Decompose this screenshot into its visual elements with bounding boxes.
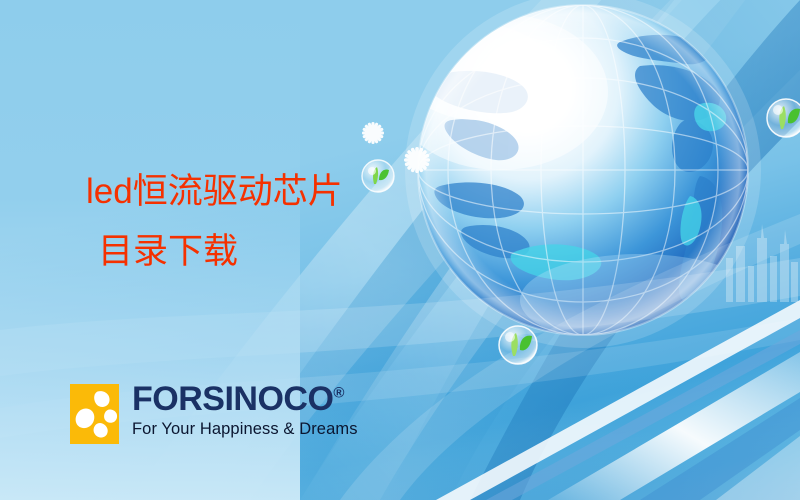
poster-canvas: led恒流驱动芯片 目录下载 FORSINOCO® For Your Happi… (0, 0, 800, 500)
brand-logo: FORSINOCO® For Your Happiness & Dreams (70, 384, 358, 444)
brand-name: FORSINOCO (132, 380, 333, 418)
brand-text: FORSINOCO® For Your Happiness & Dreams (132, 382, 358, 439)
bubble-sprout-center (362, 160, 394, 192)
sparkle-lower (404, 147, 430, 173)
bubble-sprout-right (767, 99, 800, 137)
bubble-sprout-lower (499, 326, 537, 364)
brand-wordmark: FORSINOCO® (132, 382, 344, 416)
headline-line-1: led恒流驱动芯片 (86, 172, 343, 211)
sparkle-upper (362, 122, 384, 144)
headline-line-2: 目录下载 (86, 222, 343, 282)
four-petal-flower-icon (70, 384, 119, 444)
registered-mark: ® (333, 385, 344, 402)
brand-tagline: For Your Happiness & Dreams (132, 419, 358, 439)
page-title: led恒流驱动芯片 目录下载 (86, 162, 343, 282)
